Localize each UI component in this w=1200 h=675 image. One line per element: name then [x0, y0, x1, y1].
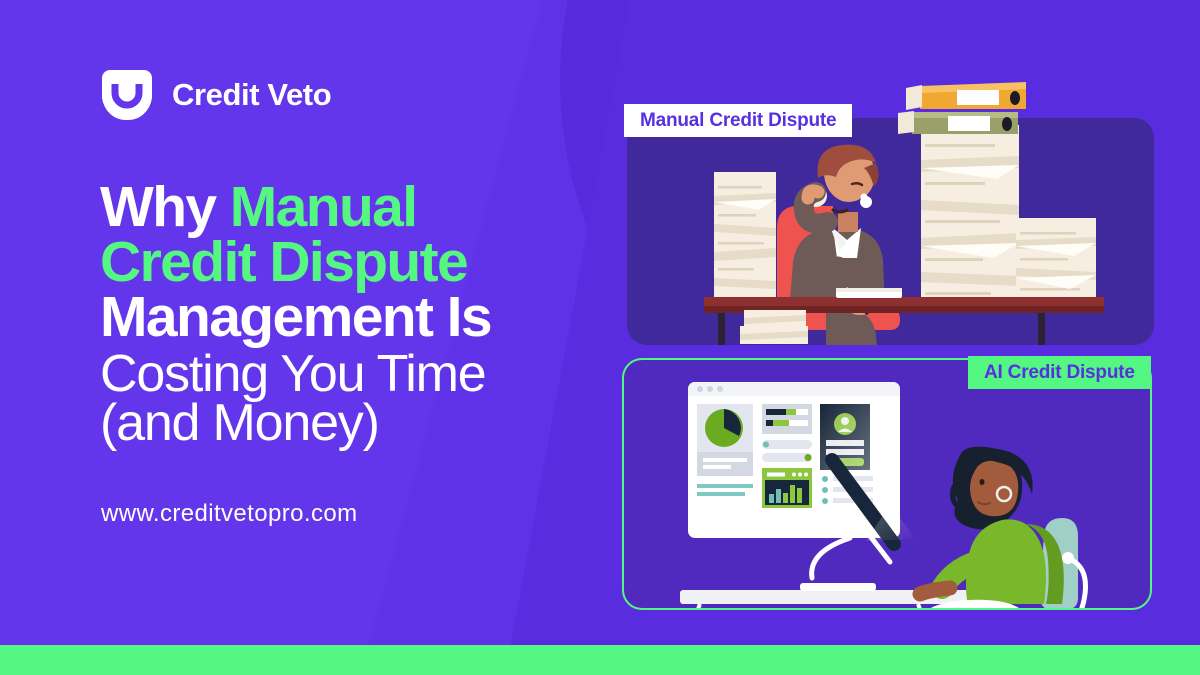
panel-manual-credit-dispute: [627, 118, 1154, 345]
headline-line5: (and Money): [100, 397, 660, 450]
page-title: Why Manual Credit Dispute Management Is …: [100, 178, 660, 450]
banner-stage: Manual Credit Dispute AI Credit Dispute …: [0, 0, 1200, 675]
panel-ai-credit-dispute: [622, 358, 1152, 610]
website-url[interactable]: www.creditvetopro.com: [101, 500, 358, 528]
badge-ai-credit-dispute: AI Credit Dispute: [968, 356, 1151, 389]
smile-shield-icon: [100, 68, 154, 122]
footer-accent-bar: [0, 645, 1200, 675]
headline-line2: Credit Dispute: [100, 233, 660, 291]
brand-logo[interactable]: Credit Veto: [100, 68, 331, 122]
badge-manual-credit-dispute: Manual Credit Dispute: [624, 104, 852, 137]
headline-line3: Management Is: [100, 288, 660, 346]
brand-name: Credit Veto: [172, 77, 331, 113]
